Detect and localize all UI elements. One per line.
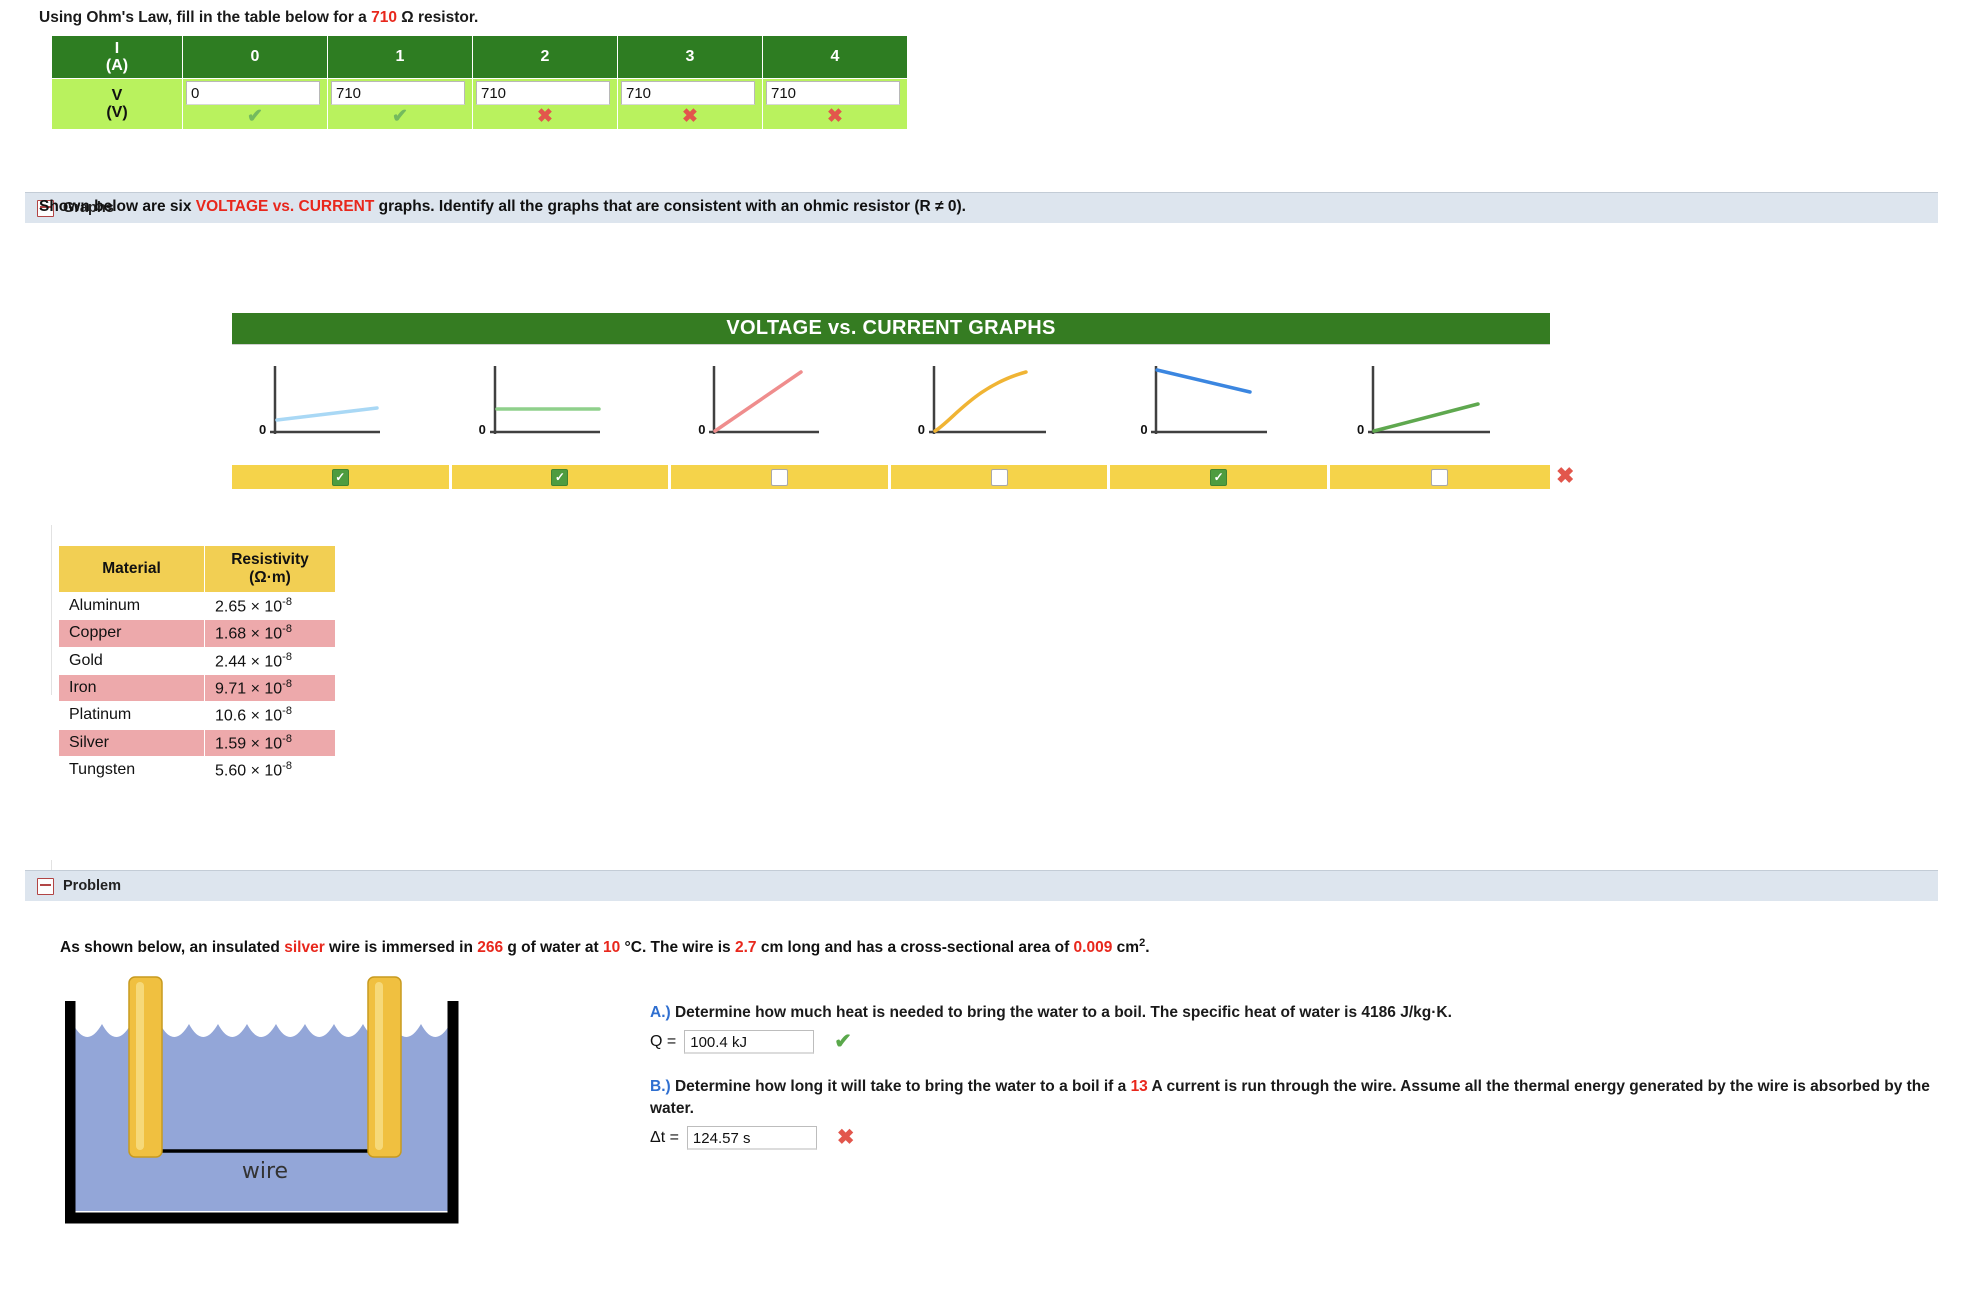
header-current-label: I (A) [52, 36, 183, 79]
part-b-heading: B.) Determine how long it will take to b… [650, 1076, 1950, 1120]
problem-text-1: As shown below, an insulated [60, 939, 284, 956]
table-voltage-row: V (V) 0 ✔ 710 ✔ 710 ✖ 710 ✖ [52, 79, 908, 130]
problem-area: 0.009 [1074, 939, 1113, 956]
table-row: Silver 1.59 × 10-8 [59, 729, 336, 756]
part-b-answer-mark: ✖ [837, 1125, 855, 1150]
electrode-rod-left [129, 977, 162, 1157]
graphs-intro-highlight: VOLTAGE vs. CURRENT [196, 198, 375, 215]
voltage-input-0[interactable]: 0 [186, 81, 320, 105]
resistivity-header-material: Material [59, 546, 205, 593]
material-name: Iron [59, 674, 205, 701]
graph-3: 0 [671, 352, 891, 462]
electrode-rod-left-highlight [136, 982, 144, 1150]
resistivity-mantissa: 10.6 × 10 [215, 708, 282, 725]
resistivity-exponent: -8 [282, 760, 292, 772]
part-a-text: Determine how much heat is needed to bri… [671, 1004, 1452, 1021]
resistivity-header-line1: Resistivity [215, 551, 325, 569]
resistivity-mantissa: 1.59 × 10 [215, 735, 282, 752]
graph-option-2[interactable]: ✓ [452, 465, 672, 489]
graphs-panel-title: VOLTAGE vs. CURRENT GRAPHS [232, 313, 1550, 344]
current-cell-4: 4 [763, 36, 908, 79]
resistivity-mantissa: 5.60 × 10 [215, 762, 282, 779]
material-resistivity: 1.59 × 10-8 [205, 729, 336, 756]
graph-option-5[interactable]: ✓ [1110, 465, 1330, 489]
graph-6: 0 [1330, 352, 1550, 462]
graph-3-zero-label: 0 [698, 422, 705, 437]
problem-text-5: cm long and has a cross-sectional area o… [757, 939, 1074, 956]
material-name: Aluminum [59, 593, 205, 620]
table-row: Aluminum 2.65 × 10-8 [59, 593, 336, 620]
part-a-answer-input[interactable]: 100.4 kJ [684, 1030, 814, 1054]
table-row: Gold 2.44 × 10-8 [59, 647, 336, 674]
current-cell-2: 2 [473, 36, 618, 79]
graph-option-4[interactable] [891, 465, 1111, 489]
resistivity-exponent: -8 [282, 678, 292, 690]
graph-5: 0 [1110, 352, 1330, 462]
graph-checkbox-6[interactable] [1431, 469, 1448, 486]
voltage-answer-cell-0: 0 ✔ [183, 79, 328, 130]
part-a-tag: A.) [650, 1004, 671, 1021]
graph-4: 0 [891, 352, 1111, 462]
problem-mass: 266 [477, 939, 503, 956]
part-b-text-pre: Determine how long it will take to bring… [671, 1078, 1131, 1095]
current-cell-1: 1 [328, 36, 473, 79]
graph-checkbox-5[interactable]: ✓ [1210, 469, 1227, 486]
ohms-law-table: I (A) 0 1 2 3 4 V (V) 0 ✔ 710 ✔ 710 [51, 35, 908, 130]
electrode-rod-right [368, 977, 401, 1157]
graphs-intro-pre: Shown below are six [39, 198, 196, 215]
graph-option-3[interactable] [671, 465, 891, 489]
graph-5-zero-label: 0 [1140, 422, 1147, 437]
voltage-mark-0: ✔ [183, 106, 327, 128]
graph-row-mark: ✖ [1556, 463, 1574, 489]
content-left-rule [51, 525, 52, 695]
graph-6-svg [1330, 352, 1549, 462]
problem-text-6: cm [1112, 939, 1139, 956]
resistivity-mantissa: 9.71 × 10 [215, 680, 282, 697]
collapse-minus-icon[interactable] [37, 878, 54, 895]
part-b-answer-input[interactable]: 124.57 s [687, 1126, 817, 1150]
prompt-text-pre: Using Ohm's Law, fill in the table below… [39, 9, 371, 26]
current-cell-0: 0 [183, 36, 328, 79]
material-name: Silver [59, 729, 205, 756]
resistivity-exponent: -8 [282, 651, 292, 663]
graph-2: 0 [452, 352, 672, 462]
resistivity-exponent: -8 [282, 596, 292, 608]
resistivity-header-value: Resistivity (Ω·m) [205, 546, 336, 593]
voltage-unit: (V) [52, 104, 182, 121]
table-row: Iron 9.71 × 10-8 [59, 674, 336, 701]
graphs-intro-post: graphs. Identify all the graphs that are… [374, 198, 966, 215]
table-row: Copper 1.68 × 10-8 [59, 620, 336, 647]
voltage-input-4[interactable]: 710 [766, 81, 900, 105]
graph-2-svg [452, 352, 671, 462]
content-left-rule-lower [51, 860, 52, 870]
material-resistivity: 2.65 × 10-8 [205, 593, 336, 620]
graph-checkbox-2[interactable]: ✓ [551, 469, 568, 486]
problem-text-4: °C. The wire is [620, 939, 735, 956]
material-resistivity: 2.44 × 10-8 [205, 647, 336, 674]
voltage-input-2[interactable]: 710 [476, 81, 610, 105]
voltage-label: V (V) [52, 79, 183, 130]
graph-1-svg [232, 352, 451, 462]
resistivity-exponent: -8 [282, 623, 292, 635]
prompt-text-post: Ω resistor. [397, 9, 478, 26]
graph-checkbox-4[interactable] [991, 469, 1008, 486]
graph-6-zero-label: 0 [1357, 422, 1364, 437]
voltage-mark-4: ✖ [763, 106, 907, 128]
voltage-mark-2: ✖ [473, 106, 617, 128]
ohms-law-prompt: Using Ohm's Law, fill in the table below… [39, 9, 478, 27]
voltage-answer-cell-3: 710 ✖ [618, 79, 763, 130]
current-cell-3: 3 [618, 36, 763, 79]
resistance-value: 710 [371, 9, 397, 26]
question-part-b: B.) Determine how long it will take to b… [650, 1076, 1950, 1150]
wire-label: wire [242, 1159, 288, 1184]
material-name: Tungsten [59, 756, 205, 783]
resistivity-mantissa: 2.65 × 10 [215, 598, 282, 615]
graph-1: 0 [232, 352, 452, 462]
resistivity-header-row: Material Resistivity (Ω·m) [59, 546, 336, 593]
graph-option-6[interactable] [1330, 465, 1550, 489]
problem-text-7: . [1145, 939, 1149, 956]
part-a-answer-label: Q = [650, 1033, 676, 1051]
voltage-symbol: V [52, 87, 182, 104]
problem-text-3: g of water at [503, 939, 603, 956]
voltage-mark-3: ✖ [618, 106, 762, 128]
problem-length: 2.7 [735, 939, 757, 956]
material-name: Gold [59, 647, 205, 674]
table-row: Platinum 10.6 × 10-8 [59, 702, 336, 729]
graph-4-zero-label: 0 [918, 422, 925, 437]
graph-selection-row: ✓ ✓ ✓ [232, 465, 1550, 489]
current-symbol: I [52, 40, 182, 57]
voltage-answer-cell-2: 710 ✖ [473, 79, 618, 130]
graph-option-1[interactable]: ✓ [232, 465, 452, 489]
graph-checkbox-1[interactable]: ✓ [332, 469, 349, 486]
part-a-heading: A.) Determine how much heat is needed to… [650, 1002, 1452, 1024]
voltage-answer-cell-4: 710 ✖ [763, 79, 908, 130]
table-row: Tungsten 5.60 × 10-8 [59, 756, 336, 783]
section-header-problem[interactable]: Problem [25, 870, 1938, 901]
table-header-row: I (A) 0 1 2 3 4 [52, 36, 908, 79]
part-b-tag: B.) [650, 1078, 671, 1095]
section-title-problem: Problem [63, 878, 121, 894]
material-resistivity: 9.71 × 10-8 [205, 674, 336, 701]
graph-2-zero-label: 0 [479, 422, 486, 437]
problem-text-2: wire is immersed in [325, 939, 477, 956]
question-part-a: A.) Determine how much heat is needed to… [650, 1002, 1452, 1054]
graph-1-zero-label: 0 [259, 422, 266, 437]
part-a-answer-row: Q = 100.4 kJ ✔ [650, 1029, 1452, 1054]
material-resistivity: 1.68 × 10-8 [205, 620, 336, 647]
resistivity-mantissa: 2.44 × 10 [215, 653, 282, 670]
material-name: Platinum [59, 702, 205, 729]
voltage-input-1[interactable]: 710 [331, 81, 465, 105]
problem-material: silver [284, 939, 325, 956]
beaker-diagram: wire [65, 966, 565, 1231]
material-resistivity: 10.6 × 10-8 [205, 702, 336, 729]
graph-checkbox-3[interactable] [771, 469, 788, 486]
material-name: Copper [59, 620, 205, 647]
voltage-input-3[interactable]: 710 [621, 81, 755, 105]
graphs-plot-row: 0 0 0 0 0 [232, 352, 1550, 462]
graph-3-svg [671, 352, 890, 462]
graph-4-svg [891, 352, 1110, 462]
resistivity-header-line2: (Ω·m) [215, 569, 325, 587]
part-b-answer-label: Δt = [650, 1129, 679, 1147]
graph-5-svg [1110, 352, 1329, 462]
voltage-mark-1: ✔ [328, 106, 472, 128]
part-b-current: 13 [1131, 1078, 1148, 1095]
graphs-instruction: Shown below are six VOLTAGE vs. CURRENT … [39, 198, 966, 216]
electrode-rod-right-highlight [375, 982, 383, 1150]
part-b-answer-row: Δt = 124.57 s ✖ [650, 1125, 1950, 1150]
resistivity-exponent: -8 [282, 733, 292, 745]
resistivity-mantissa: 1.68 × 10 [215, 626, 282, 643]
current-unit: (A) [52, 57, 182, 74]
resistivity-exponent: -8 [282, 705, 292, 717]
part-a-answer-mark: ✔ [834, 1029, 852, 1054]
problem-temperature: 10 [603, 939, 620, 956]
voltage-answer-cell-1: 710 ✔ [328, 79, 473, 130]
resistivity-table: Material Resistivity (Ω·m) Aluminum 2.65… [58, 545, 336, 784]
problem-statement: As shown below, an insulated silver wire… [60, 937, 1150, 957]
material-resistivity: 5.60 × 10-8 [205, 756, 336, 783]
